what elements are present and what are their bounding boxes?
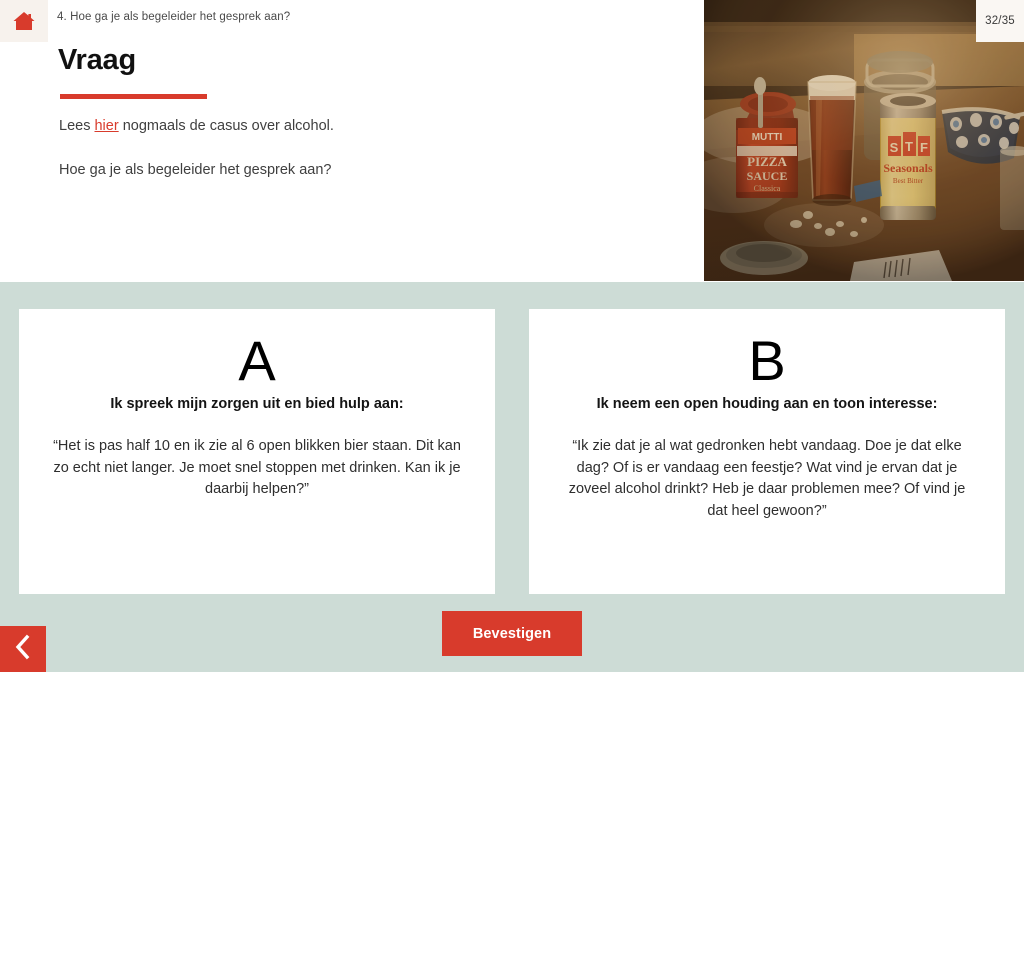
option-letter-b: B (551, 333, 983, 389)
chevron-left-icon (14, 634, 32, 665)
page-title: Vraag (58, 46, 136, 75)
question-line-1: Lees hier nogmaals de casus over alcohol… (59, 117, 659, 137)
question-line-1-prefix: Lees (59, 118, 94, 134)
casus-link[interactable]: hier (94, 118, 118, 134)
option-letter-a: A (41, 333, 473, 389)
option-text-a: “Het is pas half 10 en ik zie al 6 open … (41, 436, 473, 501)
home-button[interactable] (0, 0, 48, 42)
question-section: 4. Hoe ga je als begeleider het gesprek … (0, 0, 1024, 282)
dotted-arc-decoration (270, 874, 600, 954)
back-button[interactable] (0, 626, 46, 672)
answer-option-b[interactable]: B Ik neem een open houding aan en toon i… (529, 309, 1005, 594)
home-icon (12, 11, 36, 32)
option-heading-a: Ik spreek mijn zorgen uit en bied hulp a… (41, 395, 473, 414)
page-counter: 32/35 (976, 0, 1024, 42)
confirm-button[interactable]: Bevestigen (442, 611, 582, 656)
breadcrumb: 4. Hoe ga je als begeleider het gesprek … (57, 11, 290, 23)
answer-option-a[interactable]: A Ik spreek mijn zorgen uit en bied hulp… (19, 309, 495, 594)
question-line-2: Hoe ga je als begeleider het gesprek aan… (59, 161, 659, 181)
option-heading-b: Ik neem een open houding aan en toon int… (551, 395, 983, 414)
question-line-1-suffix: nogmaals de casus over alcohol. (119, 118, 334, 134)
question-body: Lees hier nogmaals de casus over alcohol… (59, 117, 659, 204)
kitchen-counter-alcohol-photo: MUTTI PIZZA SAUCE Classica (704, 0, 1024, 281)
title-underline-rule (60, 94, 207, 99)
option-text-b: “Ik zie dat je al wat gedronken hebt van… (551, 436, 983, 523)
slide-root: 4. Hoe ga je als begeleider het gesprek … (0, 0, 1024, 672)
